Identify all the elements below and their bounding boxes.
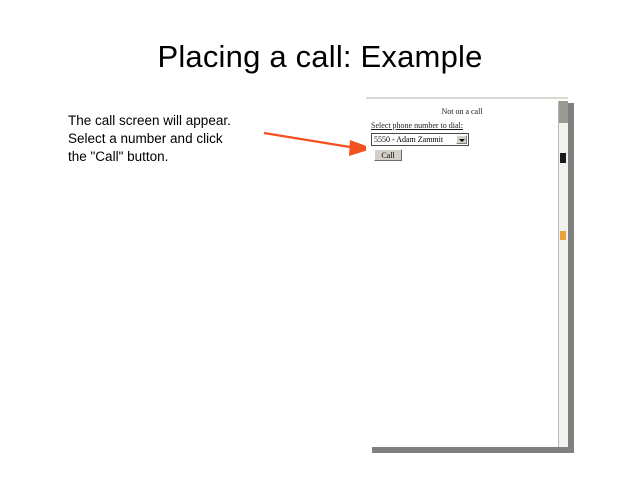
- page-title: Placing a call: Example: [0, 39, 640, 75]
- body-text-line: The call screen will appear.: [68, 112, 268, 130]
- call-button[interactable]: Call: [374, 149, 402, 161]
- app-window: Not on a call Select phone number to dia…: [366, 97, 568, 447]
- vertical-scrollbar[interactable]: [558, 101, 568, 447]
- app-client-area: Not on a call Select phone number to dia…: [366, 101, 558, 447]
- phone-number-select[interactable]: 5550 - Adam Zammit: [371, 133, 469, 146]
- scrollbar-accent-marker: [560, 231, 566, 240]
- body-text-line: the "Call" button.: [68, 148, 268, 166]
- phone-number-select-value: 5550 - Adam Zammit: [374, 135, 443, 145]
- body-text-block: The call screen will appear. Select a nu…: [68, 112, 268, 166]
- slide-canvas: Placing a call: Example The call screen …: [0, 0, 640, 480]
- callout-arrow-icon: [258, 120, 378, 160]
- app-screenshot: Not on a call Select phone number to dia…: [366, 97, 568, 447]
- chevron-down-icon[interactable]: [456, 135, 467, 144]
- body-text-line: Select a number and click: [68, 130, 268, 148]
- dial-number-label: Select phone number to dial:: [371, 121, 463, 130]
- call-status-text: Not on a call: [366, 107, 558, 116]
- scrollbar-marker: [560, 153, 566, 163]
- scrollbar-thumb[interactable]: [559, 101, 568, 123]
